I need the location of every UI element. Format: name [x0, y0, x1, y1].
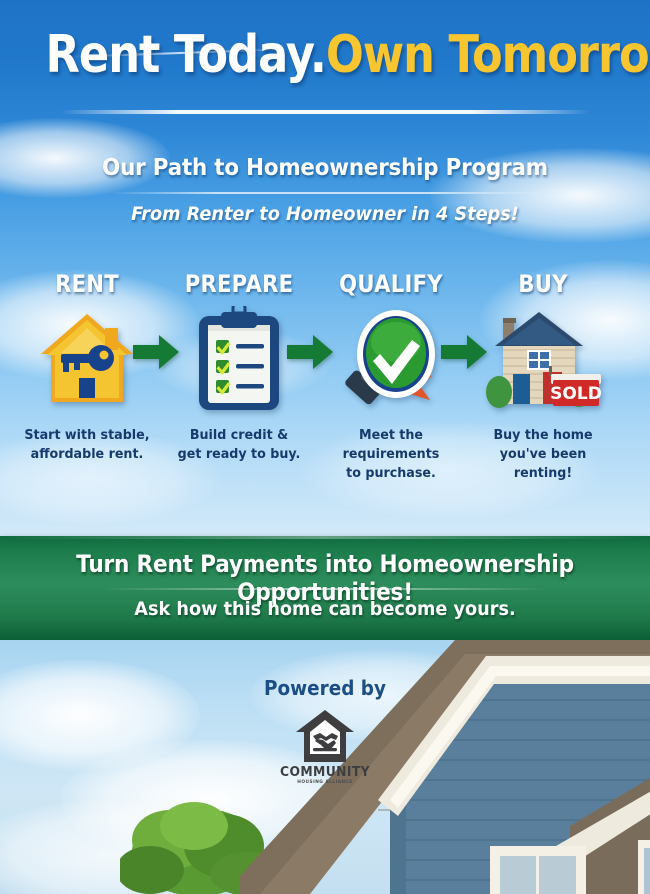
- headline-divider: [60, 110, 590, 114]
- powered-by-label: Powered by: [26, 676, 624, 700]
- step-buy: BUY: [468, 270, 618, 483]
- band-top-glow: [0, 536, 650, 539]
- house-handshake-logo-icon: [294, 708, 356, 764]
- step-caption-line1: Build credit &: [169, 426, 310, 445]
- step-caption-line2: get ready to buy.: [169, 445, 310, 464]
- call-to-action-band: Turn Rent Payments into Homeownership Op…: [0, 536, 650, 640]
- band-divider: [100, 588, 550, 590]
- step-caption: Meet the requirements to purchase.: [321, 426, 462, 483]
- house-sold-sign-icon: SOLD: [468, 306, 618, 416]
- step-caption: Build credit & get ready to buy.: [169, 426, 310, 464]
- step-caption: Buy the home you've been renting!: [473, 426, 614, 483]
- step-caption-line2: to purchase.: [321, 464, 462, 483]
- program-subtitle: Our Path to Homeownership Program: [23, 155, 628, 181]
- program-tagline: From Renter to Homeowner in 4 Steps!: [23, 203, 628, 225]
- band-subline: Ask how this home can become yours.: [23, 598, 628, 620]
- step-caption: Start with stable, affordable rent.: [17, 426, 158, 464]
- poster-headline: Rent Today.Own Tomorrow.: [46, 26, 605, 84]
- headline-part-white: Rent Today.: [46, 25, 326, 85]
- community-housing-alliance-logo: COMMUNITY HOUSING ALLIANCE: [275, 708, 375, 786]
- steps-row: RENT Start: [0, 270, 650, 510]
- step-caption-line2: you've been renting!: [473, 445, 614, 483]
- step-label: BUY: [477, 270, 609, 298]
- step-caption-line1: Start with stable,: [17, 426, 158, 445]
- headline-part-yellow: Own Tomorrow.: [326, 25, 650, 85]
- subtitle-divider: [110, 192, 540, 194]
- step-caption-line1: Meet the requirements: [321, 426, 462, 464]
- step-qualify: QUALIFY Meet the requirements to purchas…: [316, 270, 466, 483]
- step-label: RENT: [21, 270, 153, 298]
- logo-name-text: COMMUNITY: [278, 765, 373, 780]
- logo-subtitle-text: HOUSING ALLIANCE: [275, 780, 375, 785]
- poster-root: Rent Today.Own Tomorrow. Our Path to Hom…: [0, 0, 650, 894]
- step-label: PREPARE: [173, 270, 305, 298]
- sold-sign-text: SOLD: [550, 384, 602, 404]
- step-caption-line2: affordable rent.: [17, 445, 158, 464]
- step-label: QUALIFY: [325, 270, 457, 298]
- step-caption-line1: Buy the home: [473, 426, 614, 445]
